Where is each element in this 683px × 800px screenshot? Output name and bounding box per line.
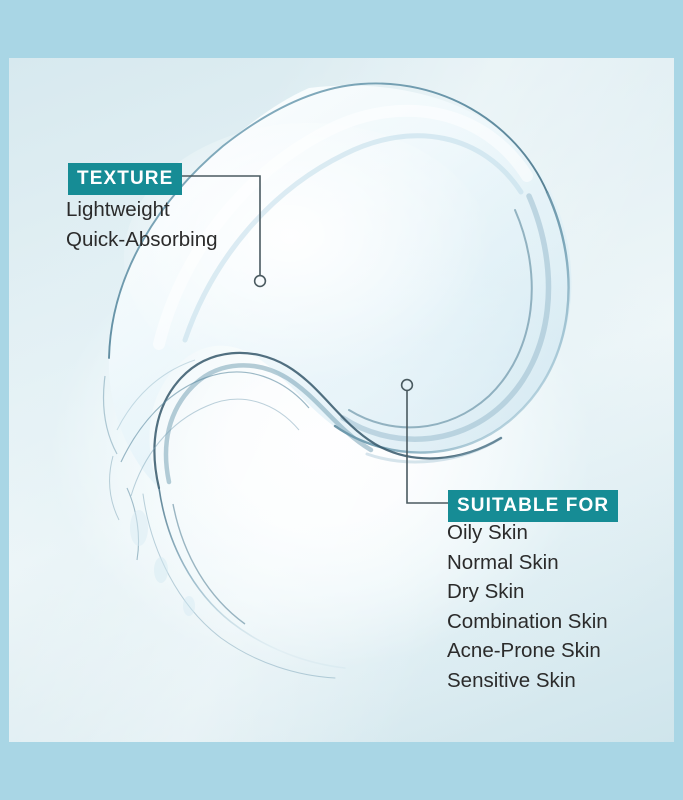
suitable-for-line-2: Normal Skin [447, 548, 608, 578]
texture-line-1: Lightweight [66, 195, 218, 225]
suitable-for-callout-text: Oily Skin Normal Skin Dry Skin Combinati… [447, 518, 608, 695]
suitable-for-line-1: Oily Skin [447, 518, 608, 548]
suitable-for-line-4: Combination Skin [447, 607, 608, 637]
suitable-for-line-6: Sensitive Skin [447, 666, 608, 696]
texture-callout-text: Lightweight Quick-Absorbing [66, 195, 218, 254]
infographic-canvas: TEXTURE Lightweight Quick-Absorbing SUIT… [0, 0, 683, 800]
texture-line-2: Quick-Absorbing [66, 225, 218, 255]
texture-badge: TEXTURE [68, 163, 182, 195]
suitable-for-line-3: Dry Skin [447, 577, 608, 607]
suitable-for-line-5: Acne-Prone Skin [447, 636, 608, 666]
